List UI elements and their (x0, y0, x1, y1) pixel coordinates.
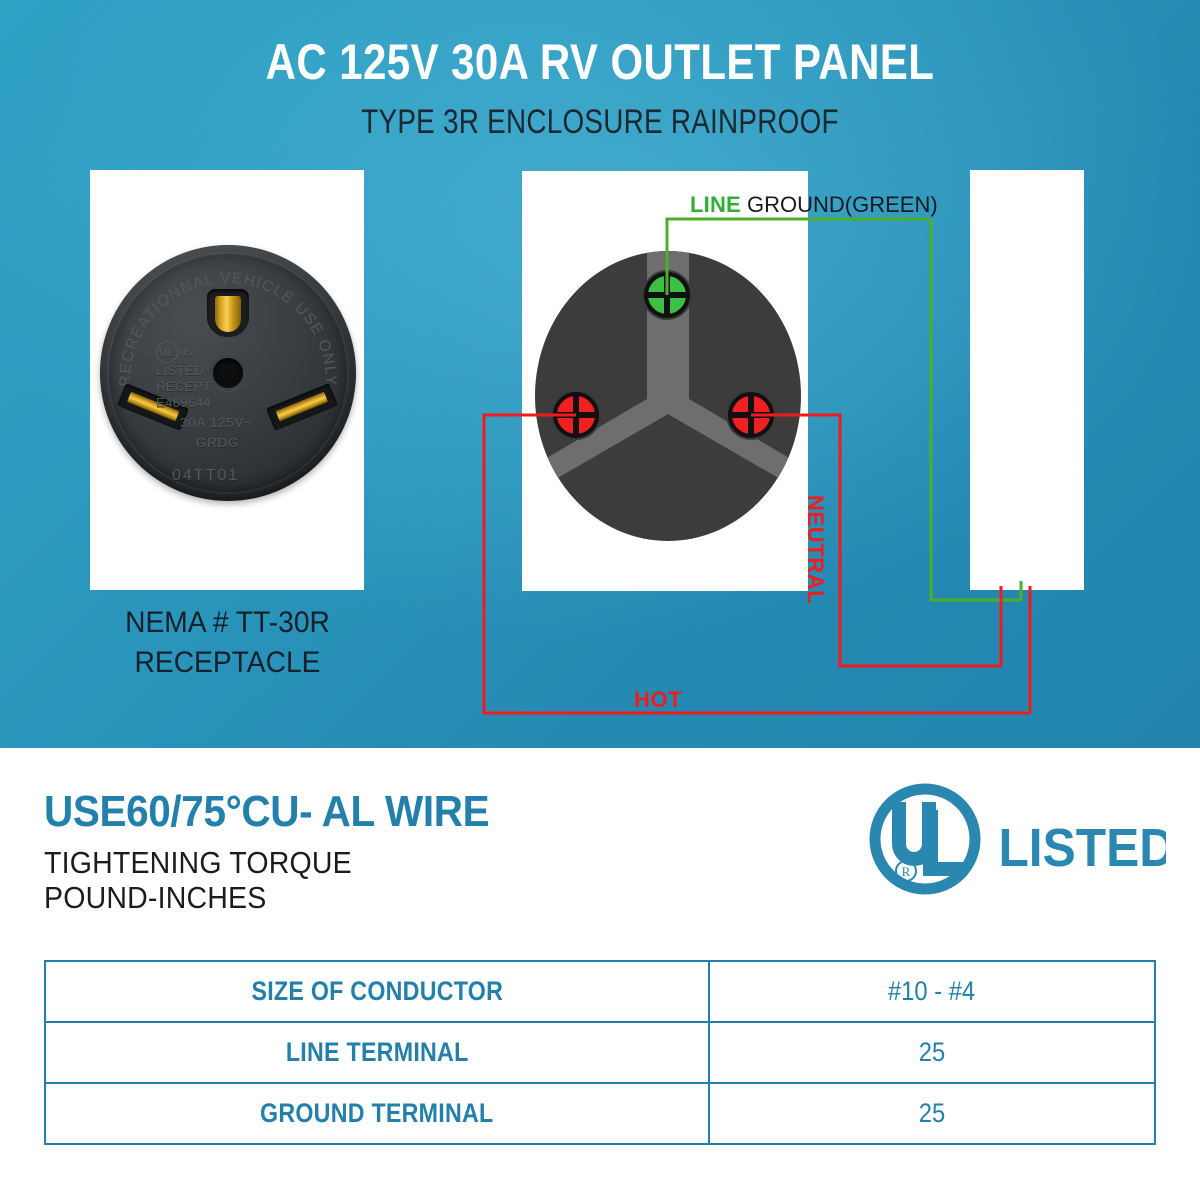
table-row: LINE TERMINAL 25 (45, 1022, 1155, 1083)
line-label: LINE (690, 192, 741, 217)
table-row: SIZE OF CONDUCTOR #10 - #4 (45, 961, 1155, 1022)
line-terminal-value: 25 (919, 1037, 945, 1068)
table-cell-value: 25 (709, 1083, 1155, 1144)
table-cell-label: LINE TERMINAL (45, 1022, 709, 1083)
line-ground-label: LINE GROUND(GREEN) (690, 192, 938, 218)
table-cell-value: #10 - #4 (709, 961, 1155, 1022)
infographic-page: AC 125V 30A RV OUTLET PANEL TYPE 3R ENCL… (0, 0, 1200, 1200)
ul-logo-letter-l (923, 810, 967, 876)
size-of-conductor-label: SIZE OF CONDUCTOR (251, 976, 503, 1007)
line-terminal-label: LINE TERMINAL (286, 1037, 469, 1068)
torque-line-2: POUND-INCHES (44, 880, 266, 916)
table-cell-label: SIZE OF CONDUCTOR (45, 961, 709, 1022)
table-cell-label: GROUND TERMINAL (45, 1083, 709, 1144)
torque-line-1: TIGHTENING TORQUE (44, 845, 352, 881)
bottom-spec-section: USE60/75°CU- AL WIRE TIGHTENING TORQUE P… (0, 748, 1200, 1200)
size-of-conductor-value: #10 - #4 (888, 976, 975, 1007)
top-hero-panel: AC 125V 30A RV OUTLET PANEL TYPE 3R ENCL… (0, 0, 1200, 748)
table-row: GROUND TERMINAL 25 (45, 1083, 1155, 1144)
ul-listed-logo: R LISTED (866, 780, 1166, 898)
neutral-wire-run (751, 415, 1001, 666)
ground-label: GROUND(GREEN) (741, 192, 938, 217)
ground-wire-right-run (931, 219, 1021, 600)
ground-wire-upper (667, 219, 931, 295)
torque-spec-table: SIZE OF CONDUCTOR #10 - #4 LINE TERMINAL… (44, 960, 1156, 1145)
wire-spec-heading: USE60/75°CU- AL WIRE (44, 787, 489, 837)
ground-terminal-value: 25 (919, 1098, 945, 1129)
table-cell-value: 25 (709, 1022, 1155, 1083)
neutral-label: NEUTRAL (802, 495, 828, 604)
ul-logo-listed-word: LISTED (998, 817, 1166, 877)
hot-wire-run (484, 415, 1030, 713)
hot-label: HOT (634, 687, 682, 713)
ground-terminal-label: GROUND TERMINAL (260, 1098, 493, 1129)
ul-logo-registered-letter: R (902, 864, 911, 879)
wire-routing-lines (0, 0, 1200, 748)
